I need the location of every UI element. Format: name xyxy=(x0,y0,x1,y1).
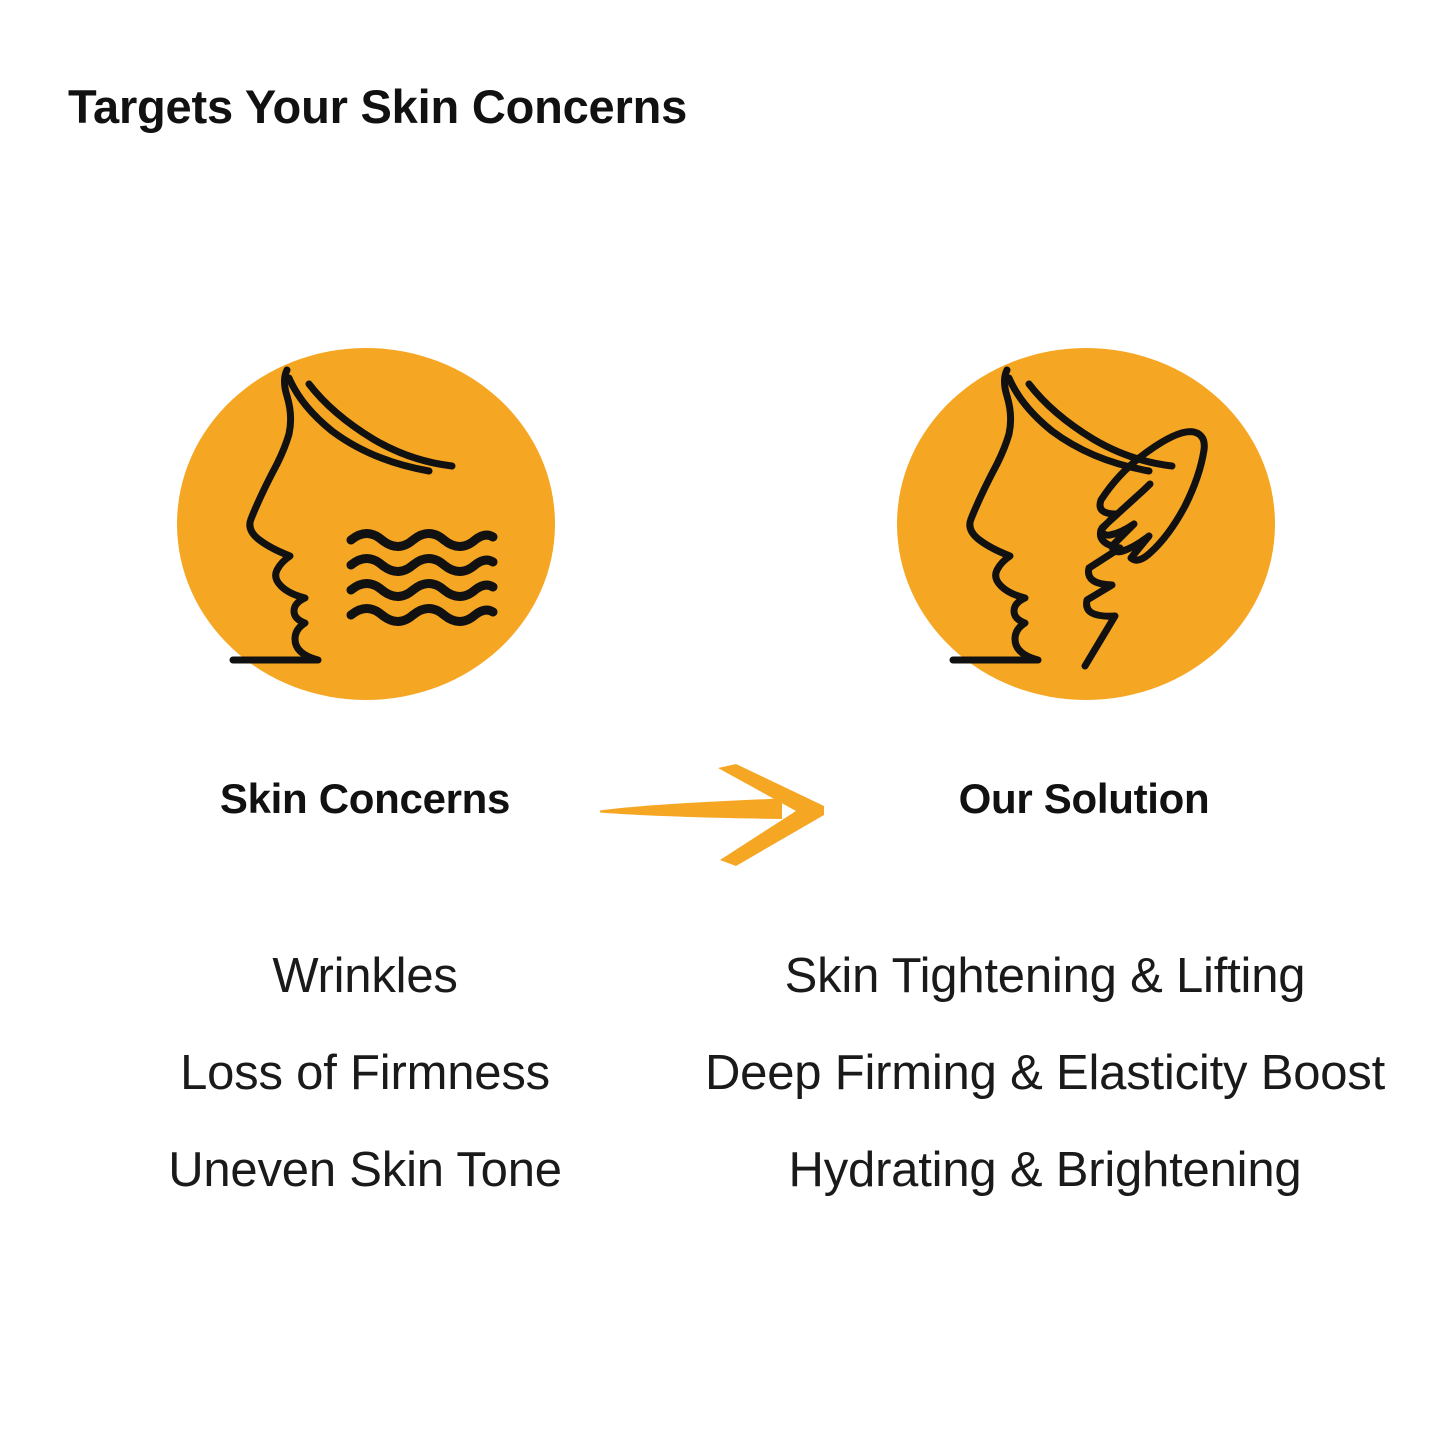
list-item: Hydrating & Brightening xyxy=(650,1122,1440,1219)
infographic-page: Targets Your Skin Concerns xyxy=(0,0,1445,1445)
face-profile-feather-icon xyxy=(897,348,1275,700)
concerns-list: Wrinkles Loss of Firmness Uneven Skin To… xyxy=(40,928,690,1219)
right-arrow-icon xyxy=(596,762,831,870)
page-title: Targets Your Skin Concerns xyxy=(68,82,687,131)
list-item: Deep Firming & Elasticity Boost xyxy=(650,1025,1440,1122)
face-profile-wrinkles-icon xyxy=(177,348,555,700)
list-item: Wrinkles xyxy=(40,928,690,1025)
list-item: Uneven Skin Tone xyxy=(40,1122,690,1219)
list-item: Skin Tightening & Lifting xyxy=(650,928,1440,1025)
solutions-list: Skin Tightening & Lifting Deep Firming &… xyxy=(650,928,1440,1219)
list-item: Loss of Firmness xyxy=(40,1025,690,1122)
